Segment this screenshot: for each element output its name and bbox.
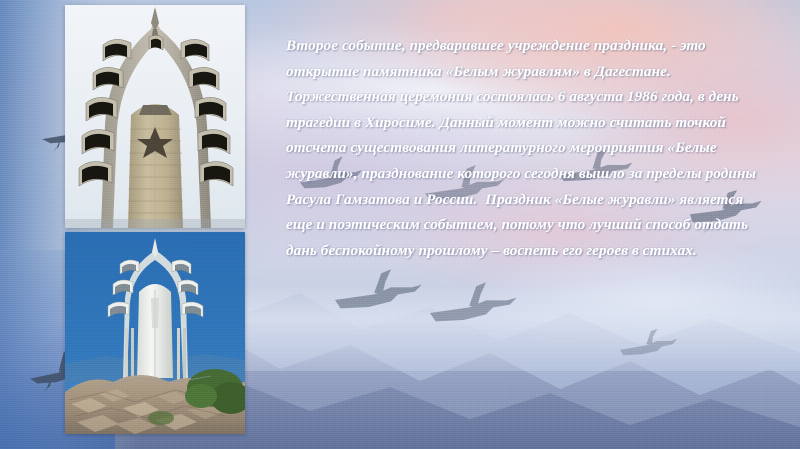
presentation-slide: Второе событие, предварившее учреждение … xyxy=(0,0,800,449)
texture-grain-overlay xyxy=(0,0,800,449)
